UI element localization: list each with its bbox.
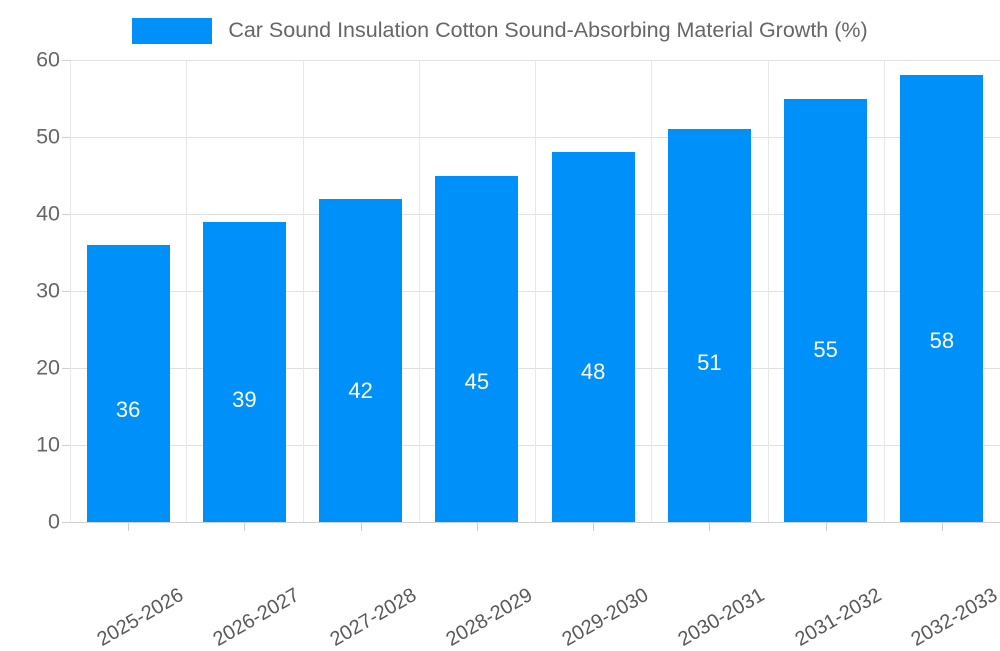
y-axis-tick-label: 20 <box>14 357 60 379</box>
legend-color-swatch <box>132 18 212 44</box>
y-tick-mark <box>62 445 70 446</box>
y-axis-tick-label: 10 <box>14 434 60 456</box>
y-tick-mark <box>62 522 70 523</box>
y-axis-tick-label: 30 <box>14 280 60 302</box>
x-gridline <box>70 60 71 522</box>
x-gridline <box>535 60 536 522</box>
y-tick-mark <box>62 214 70 215</box>
x-axis-tick-label: 2025-2026 <box>94 585 187 650</box>
x-axis-tick-label: 2028-2029 <box>443 585 536 650</box>
bar[interactable] <box>319 199 402 522</box>
x-axis-tick-label: 2027-2028 <box>327 585 420 650</box>
x-tick-mark <box>361 522 362 531</box>
x-tick-mark <box>244 522 245 531</box>
x-tick-mark <box>477 522 478 531</box>
x-axis-tick-label: 2029-2030 <box>559 585 652 650</box>
x-axis-tick-label: 2032-2033 <box>908 585 1000 650</box>
x-gridline <box>419 60 420 522</box>
plot-area: 01020304050603639424548515558 <box>70 60 1000 522</box>
bar[interactable] <box>668 129 751 522</box>
bar[interactable] <box>784 99 867 523</box>
x-gridline <box>768 60 769 522</box>
x-gridline <box>884 60 885 522</box>
x-axis-tick-label: 2030-2031 <box>675 585 768 650</box>
x-axis-tick-label: 2026-2027 <box>210 585 303 650</box>
x-tick-mark <box>709 522 710 531</box>
y-axis-tick-label: 0 <box>14 511 60 533</box>
y-axis-tick-label: 50 <box>14 126 60 148</box>
x-tick-mark <box>128 522 129 531</box>
x-gridline <box>651 60 652 522</box>
y-axis-tick-label: 40 <box>14 203 60 225</box>
y-tick-mark <box>62 137 70 138</box>
x-gridline <box>303 60 304 522</box>
x-tick-mark <box>593 522 594 531</box>
bar[interactable] <box>552 152 635 522</box>
y-axis-tick-label: 60 <box>14 49 60 71</box>
x-tick-mark <box>826 522 827 531</box>
x-axis-tick-label: 2031-2032 <box>792 585 885 650</box>
bar[interactable] <box>87 245 170 522</box>
chart-legend: Car Sound Insulation Cotton Sound-Absorb… <box>0 10 1000 52</box>
y-gridline <box>70 522 1000 523</box>
y-tick-mark <box>62 60 70 61</box>
bar[interactable] <box>435 176 518 523</box>
legend-series-label: Car Sound Insulation Cotton Sound-Absorb… <box>228 20 867 42</box>
y-tick-mark <box>62 368 70 369</box>
x-gridline <box>186 60 187 522</box>
bar-chart: Car Sound Insulation Cotton Sound-Absorb… <box>0 0 1000 600</box>
bar[interactable] <box>203 222 286 522</box>
y-tick-mark <box>62 291 70 292</box>
x-tick-mark <box>942 522 943 531</box>
bar[interactable] <box>900 75 983 522</box>
